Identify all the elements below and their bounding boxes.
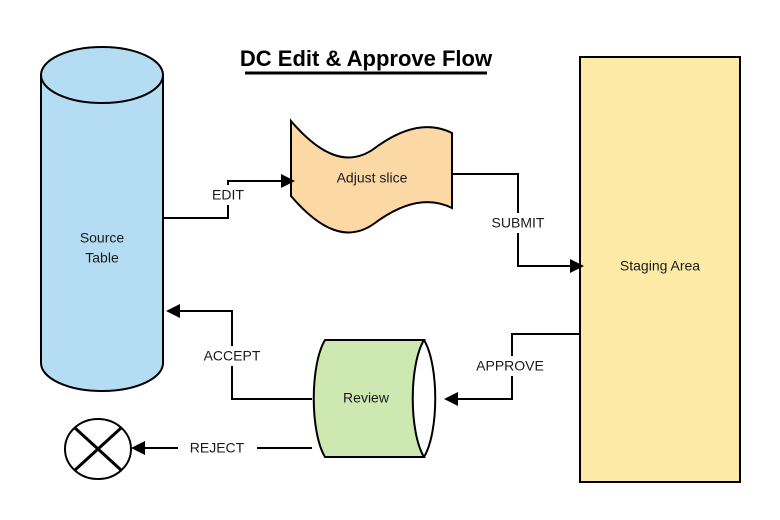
- edge-reject: REJECT: [131, 438, 312, 458]
- edge-label-approve: APPROVE: [476, 358, 544, 374]
- node-reject-terminator[interactable]: [65, 419, 131, 479]
- review-cylinder-cap: [424, 340, 435, 457]
- edge-label-reject: REJECT: [190, 440, 245, 456]
- reject-arrow-head: [131, 441, 145, 455]
- edge-approve: APPROVE: [444, 334, 580, 406]
- edge-label-submit: SUBMIT: [492, 215, 545, 231]
- source-table-label-line2: Table: [85, 250, 119, 266]
- edge-label-edit: EDIT: [212, 187, 244, 203]
- node-adjust-slice[interactable]: Adjust slice: [291, 121, 452, 232]
- page-title: DC Edit & Approve Flow: [240, 46, 493, 71]
- node-staging-area[interactable]: Staging Area: [580, 57, 740, 482]
- diagram-title-group: DC Edit & Approve Flow: [240, 46, 493, 73]
- adjust-slice-label: Adjust slice: [337, 170, 408, 186]
- edge-label-accept: ACCEPT: [204, 348, 261, 364]
- node-source-table[interactable]: Source Table: [41, 47, 163, 391]
- source-table-cylinder-top: [41, 47, 163, 103]
- approve-arrow-head: [444, 392, 458, 406]
- diagram-canvas: DC Edit & Approve Flow Source Table Adju…: [0, 0, 780, 520]
- edge-accept: ACCEPT: [166, 304, 312, 399]
- source-table-label-line1: Source: [80, 230, 125, 246]
- node-review[interactable]: Review: [314, 340, 436, 457]
- edge-edit: EDIT: [163, 174, 295, 218]
- accept-arrow-head: [166, 304, 180, 318]
- edge-submit: SUBMIT: [452, 174, 584, 273]
- flowchart-svg: DC Edit & Approve Flow Source Table Adju…: [0, 0, 780, 520]
- staging-area-label: Staging Area: [620, 258, 700, 274]
- review-label: Review: [343, 390, 390, 406]
